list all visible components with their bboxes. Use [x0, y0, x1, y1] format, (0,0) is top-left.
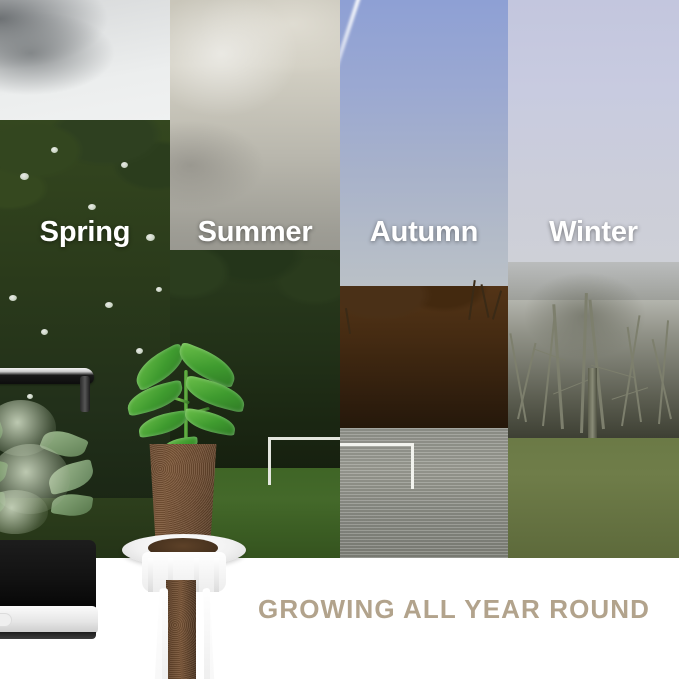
season-label-summer: Summer [170, 216, 340, 249]
season-panel-autumn: Autumn [340, 0, 508, 558]
winter-sky [508, 0, 679, 300]
winter-ground [508, 438, 679, 558]
garden-base [0, 606, 98, 634]
tagline-text: GROWING ALL YEAR ROUND [258, 594, 650, 625]
garden-base-shadow [0, 632, 96, 639]
pod-root-core [166, 580, 196, 679]
autumn-football-goal [340, 443, 414, 489]
hydroponic-garden-unit [0, 368, 112, 668]
autumn-treeline [340, 286, 508, 432]
aircraft-contrail [340, 0, 362, 137]
garden-body [0, 540, 96, 610]
autumn-sky [340, 0, 508, 300]
season-label-autumn: Autumn [340, 216, 508, 249]
summer-football-goal [268, 437, 340, 485]
grow-sponge-plug [145, 444, 221, 544]
season-label-winter: Winter [508, 216, 679, 249]
winter-bare-treeline [508, 262, 679, 440]
marketing-image: Spring Summer Autumn [0, 0, 679, 679]
season-panel-winter: Winter [508, 0, 679, 558]
seed-pod-assembly [118, 352, 258, 679]
herb-cluster [0, 386, 100, 546]
season-label-spring: Spring [0, 216, 170, 249]
winter-tree-trunk [588, 368, 597, 440]
